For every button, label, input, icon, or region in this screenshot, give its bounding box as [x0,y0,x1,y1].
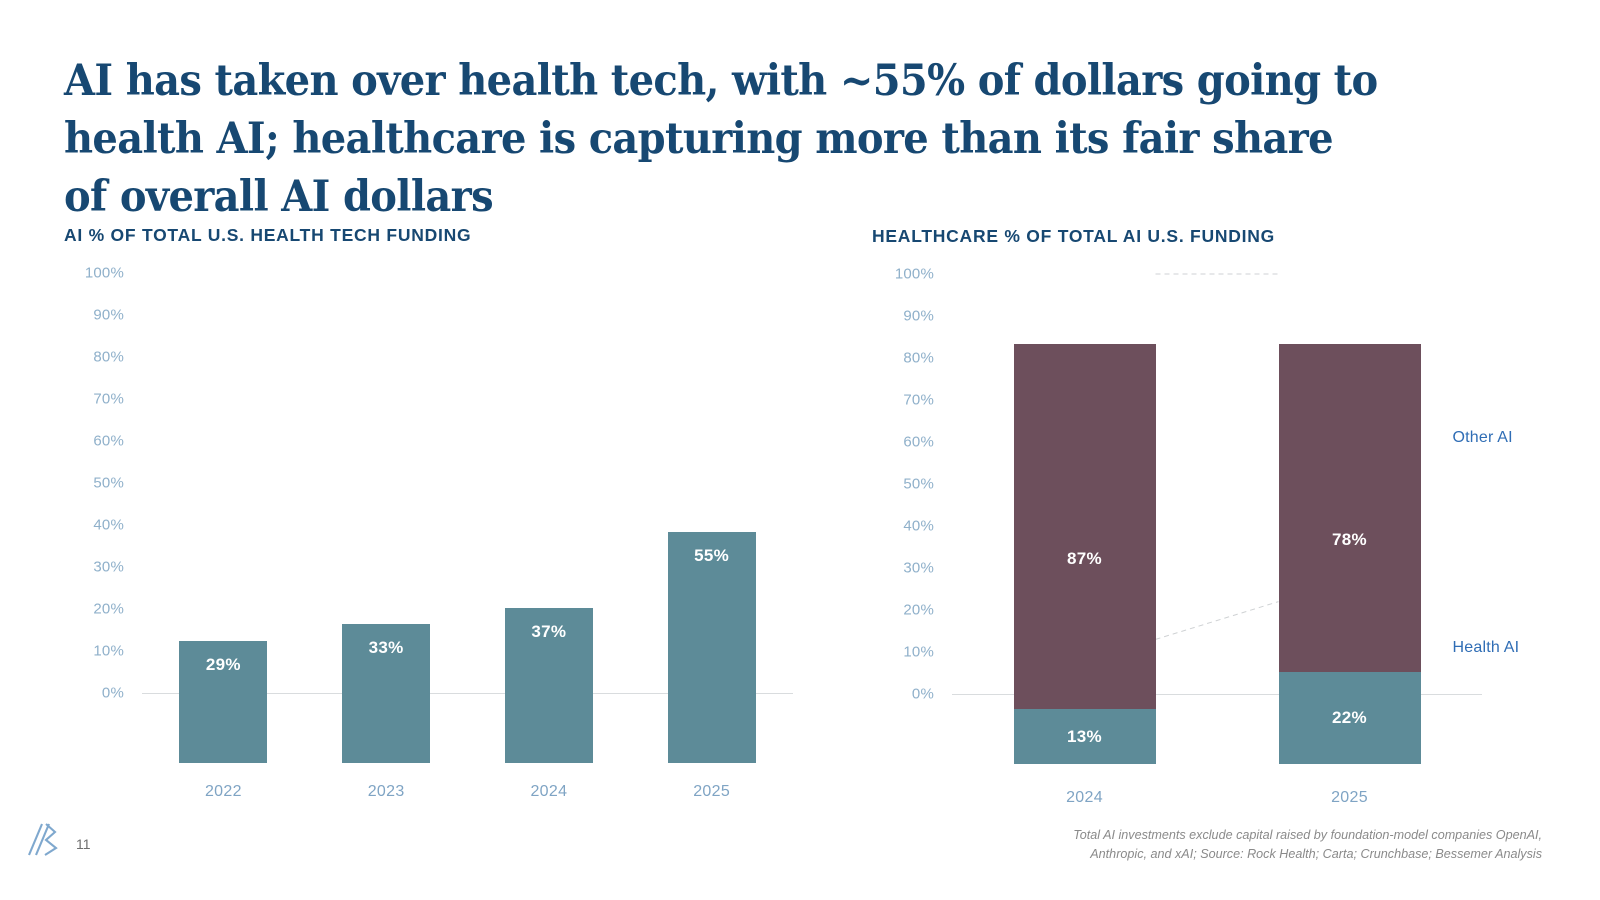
stack-segment-health-ai-2025[interactable]: 22% [1279,672,1421,764]
x-axis-label-2023: 2023 [305,783,468,801]
y-axis-tick: 70% [903,392,934,409]
bar-2022[interactable]: 29% [179,641,267,763]
footnote: Total AI investments exclude capital rai… [902,826,1542,864]
stack-segment-other-ai-2025[interactable]: 78% [1279,344,1421,672]
legend-label-other-ai: Other AI [1453,429,1513,447]
footnote-line-1: Total AI investments exclude capital rai… [902,826,1542,845]
chart-left-title: AI % OF TOTAL U.S. HEALTH TECH FUNDING [64,225,804,246]
y-axis-tick: 40% [903,518,934,535]
page-title: AI has taken over health tech, with ~55%… [64,52,1385,226]
x-axis-label-2022: 2022 [142,783,305,801]
legend-label-health-ai: Health AI [1453,639,1520,657]
bar-value-label: 29% [179,655,267,675]
y-axis-tick: 10% [903,644,934,661]
bar-2025[interactable]: 55% [668,532,756,763]
y-axis-tick: 60% [93,433,124,450]
x-axis-label-2024: 2024 [468,783,631,801]
bar-value-label: 37% [505,622,593,642]
chart-left-y-axis: 100%90%80%70%60%50%40%30%20%10%0% [64,273,124,693]
page-number: 11 [76,836,91,852]
y-axis-tick: 0% [102,685,124,702]
y-axis-tick: 90% [93,307,124,324]
slide: AI has taken over health tech, with ~55%… [0,0,1600,900]
x-axis-label-2024: 2024 [952,789,1217,807]
stack-value-label: 13% [1014,727,1156,747]
x-axis-label-2025: 2025 [630,783,793,801]
x-axis-label-2025: 2025 [1217,789,1482,807]
y-axis-tick: 40% [93,517,124,534]
bar-column: 55%2025 [630,343,793,763]
bar-column: 29%2022 [142,343,305,763]
y-axis-tick: 10% [93,643,124,660]
y-axis-tick: 60% [903,434,934,451]
y-axis-tick: 30% [903,560,934,577]
stacked-bar-column: 13%87%2024 [952,344,1217,764]
stack-segment-health-ai-2024[interactable]: 13% [1014,709,1156,764]
stack-value-label: 22% [1279,708,1421,728]
chart-left-plot: 100%90%80%70%60%50%40%30%20%10%0% 29%202… [64,273,804,763]
bar-column: 37%2024 [468,343,631,763]
chart-right-y-axis: 100%90%80%70%60%50%40%30%20%10%0% [872,274,934,694]
chart-right-bars: 13%87%202422%78%2025 [952,344,1482,764]
chart-right-plot: 100%90%80%70%60%50%40%30%20%10%0% 13%87%… [872,274,1562,764]
stack-segment-other-ai-2024[interactable]: 87% [1014,344,1156,709]
y-axis-tick: 90% [903,308,934,325]
chart-right-title: HEALTHCARE % OF TOTAL AI U.S. FUNDING [872,226,1562,247]
y-axis-tick: 0% [912,686,934,703]
bar-value-label: 55% [668,546,756,566]
footnote-line-2: Anthropic, and xAI; Source: Rock Health;… [902,845,1542,864]
y-axis-tick: 100% [85,265,124,282]
chart-left-bars: 29%202233%202337%202455%2025 [142,343,793,763]
chart-panel-left: AI % OF TOTAL U.S. HEALTH TECH FUNDING 1… [64,225,804,765]
bar-2023[interactable]: 33% [342,624,430,763]
bar-value-label: 33% [342,638,430,658]
y-axis-tick: 80% [903,350,934,367]
stack-value-label: 78% [1279,530,1421,550]
bessemer-logo [26,820,60,858]
y-axis-tick: 70% [93,391,124,408]
y-axis-tick: 80% [93,349,124,366]
chart-panel-right: HEALTHCARE % OF TOTAL AI U.S. FUNDING 10… [872,226,1562,766]
y-axis-tick: 50% [903,476,934,493]
y-axis-tick: 50% [93,475,124,492]
y-axis-tick: 30% [93,559,124,576]
stack-value-label: 87% [1014,549,1156,569]
y-axis-tick: 100% [895,266,934,283]
stacked-bar-column: 22%78%2025 [1217,344,1482,764]
bar-column: 33%2023 [305,343,468,763]
y-axis-tick: 20% [93,601,124,618]
bar-2024[interactable]: 37% [505,608,593,763]
y-axis-tick: 20% [903,602,934,619]
